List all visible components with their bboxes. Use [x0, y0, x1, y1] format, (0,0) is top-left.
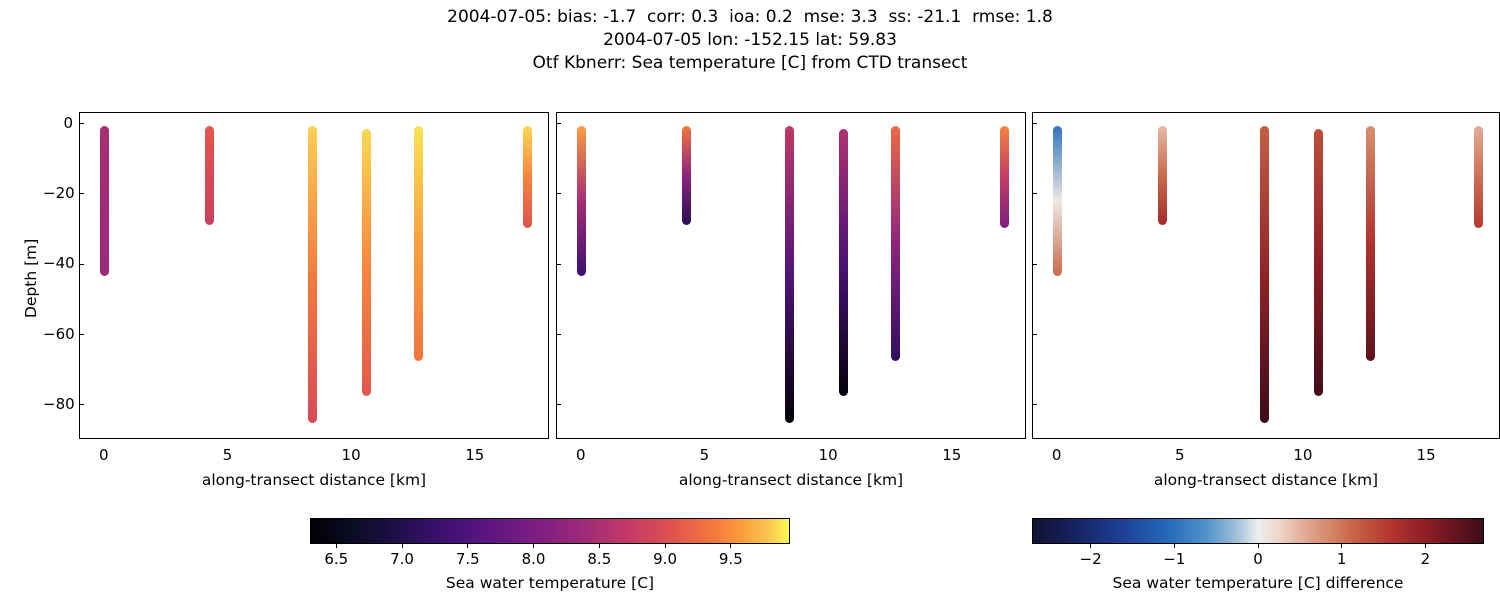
plot-axes-obs_minus_model: Obs - Model: [1032, 112, 1500, 439]
x-axis-label-observation: along-transect distance [km]: [79, 471, 549, 489]
plot-axes-nwgoa: NWGOA: [556, 112, 1026, 439]
ctd-cast-profile: [1474, 126, 1483, 229]
y-axis-tick: [80, 334, 84, 335]
y-axis-tick: [80, 123, 84, 124]
y-axis-tick: [557, 123, 561, 124]
colorbar-tick-label: 1: [1337, 550, 1347, 568]
y-axis-tick: [1033, 264, 1037, 265]
colorbar-tick: [1425, 544, 1426, 548]
colorbar-tick: [533, 544, 534, 548]
y-axis-tick: [1033, 123, 1037, 124]
difference-colorbar: [1032, 518, 1484, 544]
colorbar-tick-label: 6.5: [324, 550, 348, 568]
colorbar-tick-label: 8.0: [522, 550, 546, 568]
x-axis-label-nwgoa: along-transect distance [km]: [556, 471, 1026, 489]
x-axis-tick-label: 5: [700, 446, 710, 464]
y-axis-tick: [557, 193, 561, 194]
y-axis-tick: [557, 404, 561, 405]
suptitle-line-coords: 2004-07-05 lon: -152.15 lat: 59.83: [0, 29, 1500, 52]
y-axis-tick: [1033, 193, 1037, 194]
y-axis-tick: [1033, 404, 1037, 405]
ctd-cast-profile: [414, 126, 423, 361]
y-axis-tick: [80, 193, 84, 194]
x-axis-tick-label: 5: [223, 446, 233, 464]
x-axis-tick-label: 10: [1293, 446, 1312, 464]
y-axis-tick-label: 0: [43, 114, 73, 132]
colorbar-tick-label: 9.0: [653, 550, 677, 568]
x-axis-label-obs_minus_model: along-transect distance [km]: [1032, 471, 1500, 489]
x-axis-tick-label: 0: [99, 446, 109, 464]
y-axis-tick: [1033, 334, 1037, 335]
colorbar-tick-label: 8.5: [587, 550, 611, 568]
x-axis-tick-label: 10: [342, 446, 361, 464]
colorbar-tick: [730, 544, 731, 548]
colorbar-tick: [1174, 544, 1175, 548]
colorbar-tick: [665, 544, 666, 548]
ctd-cast-profile: [1366, 126, 1375, 361]
colorbar-tick: [1341, 544, 1342, 548]
figure: 2004-07-05: bias: -1.7 corr: 0.3 ioa: 0.…: [0, 0, 1500, 600]
colorbar-tick-label: 2: [1421, 550, 1431, 568]
suptitle-line-stats: 2004-07-05: bias: -1.7 corr: 0.3 ioa: 0.…: [0, 6, 1500, 29]
x-axis-tick-label: 0: [1052, 446, 1062, 464]
y-axis-tick: [557, 334, 561, 335]
ctd-cast-profile: [577, 126, 586, 277]
ctd-cast-profile: [308, 126, 317, 423]
colorbar-tick: [1258, 544, 1259, 548]
colorbar-tick-label: 7.5: [456, 550, 480, 568]
colorbar-tick: [1090, 544, 1091, 548]
colorbar-label-temperature-colorbar: Sea water temperature [C]: [310, 574, 790, 592]
ctd-cast-profile: [1158, 126, 1167, 225]
colorbar-tick-label: 0: [1253, 550, 1263, 568]
ctd-cast-profile: [682, 126, 691, 225]
colorbar-tick-label: 7.0: [390, 550, 414, 568]
colorbar-tick-label: −1: [1163, 550, 1185, 568]
ctd-cast-profile: [205, 126, 214, 225]
figure-suptitle: 2004-07-05: bias: -1.7 corr: 0.3 ioa: 0.…: [0, 6, 1500, 75]
colorbar-tick: [599, 544, 600, 548]
ctd-cast-profile: [891, 126, 900, 361]
ctd-cast-profile: [362, 129, 371, 396]
ctd-cast-profile: [785, 126, 794, 423]
x-axis-tick-label: 5: [1175, 446, 1185, 464]
temperature-colorbar: [310, 518, 790, 544]
colorbar-label-difference-colorbar: Sea water temperature [C] difference: [1032, 574, 1484, 592]
ctd-cast-profile: [1260, 126, 1269, 423]
colorbar-tick: [336, 544, 337, 548]
ctd-cast-profile: [839, 129, 848, 396]
y-axis-tick-label: −40: [43, 254, 73, 272]
y-axis-tick: [80, 404, 84, 405]
suptitle-line-desc: Otf Kbnerr: Sea temperature [C] from CTD…: [0, 52, 1500, 75]
y-axis-tick-label: −20: [43, 184, 73, 202]
y-axis-tick-label: −80: [43, 395, 73, 413]
x-axis-tick-label: 15: [465, 446, 484, 464]
colorbar-tick: [402, 544, 403, 548]
x-axis-tick-label: 0: [576, 446, 586, 464]
colorbar-tick: [467, 544, 468, 548]
y-axis-tick: [80, 264, 84, 265]
x-axis-tick-label: 15: [942, 446, 961, 464]
x-axis-tick-label: 15: [1417, 446, 1436, 464]
colorbar-tick-label: 9.5: [719, 550, 743, 568]
ctd-cast-profile: [1053, 126, 1062, 277]
ctd-cast-profile: [523, 126, 532, 229]
ctd-cast-profile: [1314, 129, 1323, 396]
x-axis-tick-label: 10: [819, 446, 838, 464]
y-axis-tick-label: −60: [43, 325, 73, 343]
colorbar-tick-label: −2: [1080, 550, 1102, 568]
ctd-cast-profile: [1000, 126, 1009, 229]
y-axis-label: Depth [m]: [22, 238, 40, 317]
ctd-cast-profile: [100, 126, 109, 277]
y-axis-tick: [557, 264, 561, 265]
plot-axes-observation: Observation: [79, 112, 549, 439]
